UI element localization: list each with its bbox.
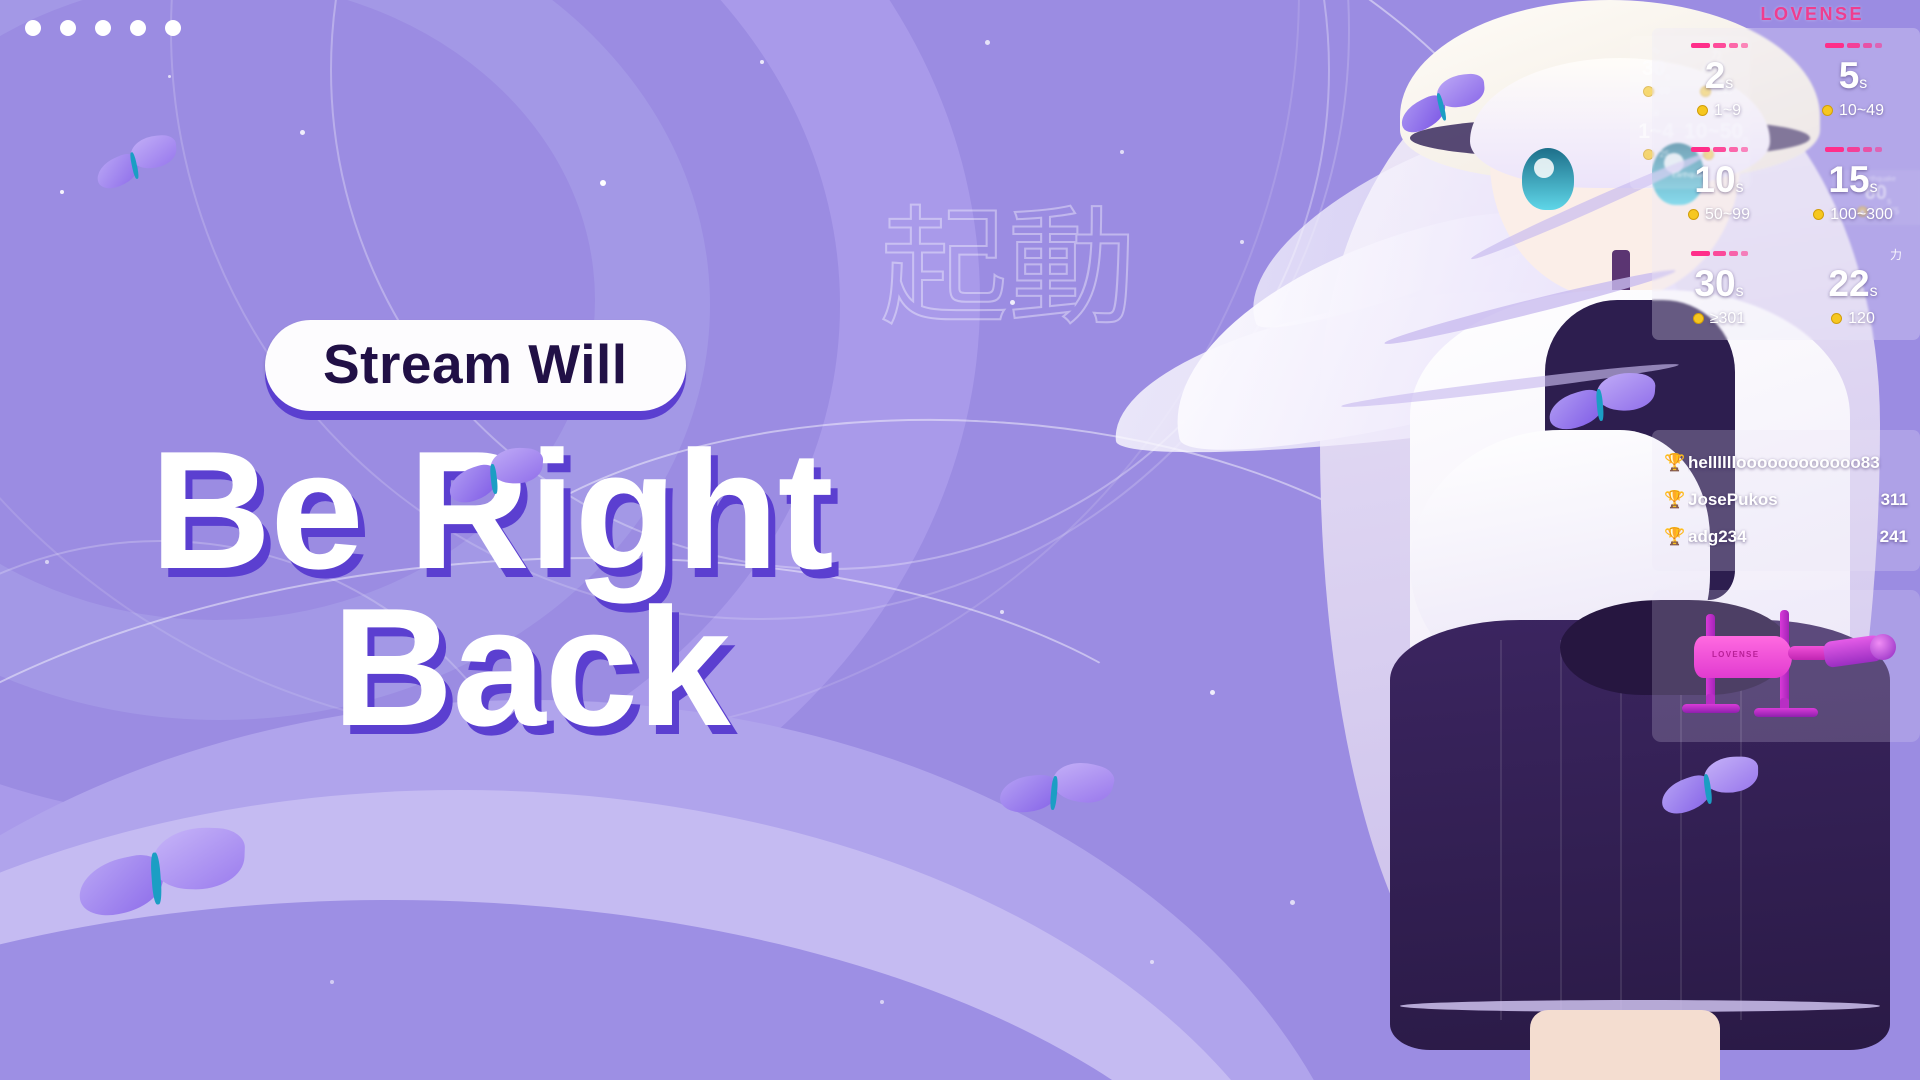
lovense-logo: LOVENSE (1760, 4, 1864, 25)
bronze-trophy-icon: 🏆 (1664, 527, 1688, 547)
pulse-icon: 力 (1890, 246, 1902, 263)
tip-amount: 10~49 (1839, 102, 1884, 119)
wave-icon (1792, 41, 1914, 49)
kanji-watermark: 起動 (880, 205, 1136, 333)
brb-text-block: Stream Will Be Right Back (150, 320, 1150, 744)
tip-duration: 22 (1828, 263, 1869, 304)
leaderboard-row: 🏆 adg234 241 (1664, 518, 1908, 555)
leaderboard-name: helllllloooooooooooo83 (1688, 453, 1900, 473)
tip-amount: 50~99 (1705, 206, 1750, 223)
token-coin-icon (1813, 209, 1824, 220)
token-coin-icon (1822, 105, 1833, 116)
loading-dot (25, 20, 41, 36)
stream-brb-scene: 起動 (0, 0, 1920, 1080)
sex-machine-icon: LOVENSE (1684, 608, 1894, 726)
token-coin-icon (1831, 313, 1842, 324)
tip-amount: 1~9 (1714, 102, 1741, 119)
token-coin-icon (1697, 105, 1708, 116)
tip-duration: 10 (1694, 159, 1735, 200)
tip-unit: s (1725, 75, 1733, 92)
tip-menu-cell[interactable]: 力 22s 120 (1786, 236, 1920, 340)
tip-amount: 120 (1848, 310, 1875, 327)
connected-toy-card: LOVENSE (1652, 590, 1920, 742)
tip-menu-cell[interactable]: 10s 50~99 (1652, 132, 1786, 236)
sparkle (168, 75, 171, 78)
loading-dots-indicator (25, 20, 181, 36)
butterfly-decoration (445, 445, 543, 514)
tip-unit: s (1736, 179, 1744, 196)
tip-amount: ≥301 (1710, 310, 1745, 327)
sparkle (1010, 300, 1015, 305)
sparkle (1240, 240, 1244, 244)
sparkle (1120, 150, 1124, 154)
silver-trophy-icon: 🏆 (1664, 490, 1688, 510)
leaderboard-score: 241 (1872, 527, 1908, 547)
tip-unit: s (1870, 283, 1878, 300)
wave-icon (1792, 145, 1914, 153)
sparkle (760, 60, 764, 64)
tip-menu-cell[interactable]: 2s 1~9 (1652, 28, 1786, 132)
token-coin-icon (1693, 313, 1704, 324)
device-brand-label: LOVENSE (1712, 650, 1759, 659)
tip-duration: 30 (1694, 263, 1735, 304)
leaderboard-name: adg234 (1688, 527, 1872, 547)
gold-trophy-icon: 🏆 (1664, 453, 1688, 473)
sparkle (1210, 690, 1215, 695)
loading-dot (130, 20, 146, 36)
tip-duration: 15 (1828, 159, 1869, 200)
headline-line-2: Back (332, 590, 1150, 745)
tip-unit: s (1870, 179, 1878, 196)
leaderboard-row: 🏆 JosePukos 311 (1664, 481, 1908, 518)
sparkle (300, 130, 305, 135)
headline-line-1: Be Right (150, 433, 1150, 588)
sparkle (880, 1000, 884, 1004)
token-coin-icon (1688, 209, 1699, 220)
sparkle (330, 980, 334, 984)
tip-menu-cell[interactable]: 30s ≥301 (1652, 236, 1786, 340)
stream-will-badge: Stream Will (265, 320, 686, 411)
tip-unit: s (1859, 75, 1867, 92)
loading-dot (95, 20, 111, 36)
leaderboard-row: 🏆 helllllloooooooooooo83 (1664, 444, 1908, 481)
sparkle (985, 40, 990, 45)
leaderboard-score: 311 (1873, 490, 1908, 510)
leaderboard-name: JosePukos (1688, 490, 1873, 510)
butterfly-decoration (997, 755, 1110, 830)
loading-dot (60, 20, 76, 36)
loading-dot (165, 20, 181, 36)
butterfly-decoration (75, 824, 252, 941)
sparkle (1150, 960, 1154, 964)
butterfly-decoration (1545, 371, 1654, 442)
lovense-tip-menu: 2s 1~9 5s 10~49 10s 50~99 15s 100~300 30 (1652, 28, 1920, 340)
sparkle (60, 190, 64, 194)
wave-icon (1658, 41, 1780, 49)
wave-icon (1658, 249, 1780, 257)
tip-menu-cell[interactable]: 5s 10~49 (1786, 28, 1920, 132)
tipper-leaderboard: 🏆 helllllloooooooooooo83 🏆 JosePukos 311… (1652, 430, 1920, 571)
tip-unit: s (1736, 283, 1744, 300)
tip-menu-cell[interactable]: 15s 100~300 (1786, 132, 1920, 236)
tip-duration: 5 (1839, 55, 1860, 96)
sparkle (600, 180, 606, 186)
tip-duration: 2 (1705, 55, 1726, 96)
wave-icon (1658, 145, 1780, 153)
sparkle (45, 560, 49, 564)
tip-amount: 100~300 (1830, 206, 1893, 223)
